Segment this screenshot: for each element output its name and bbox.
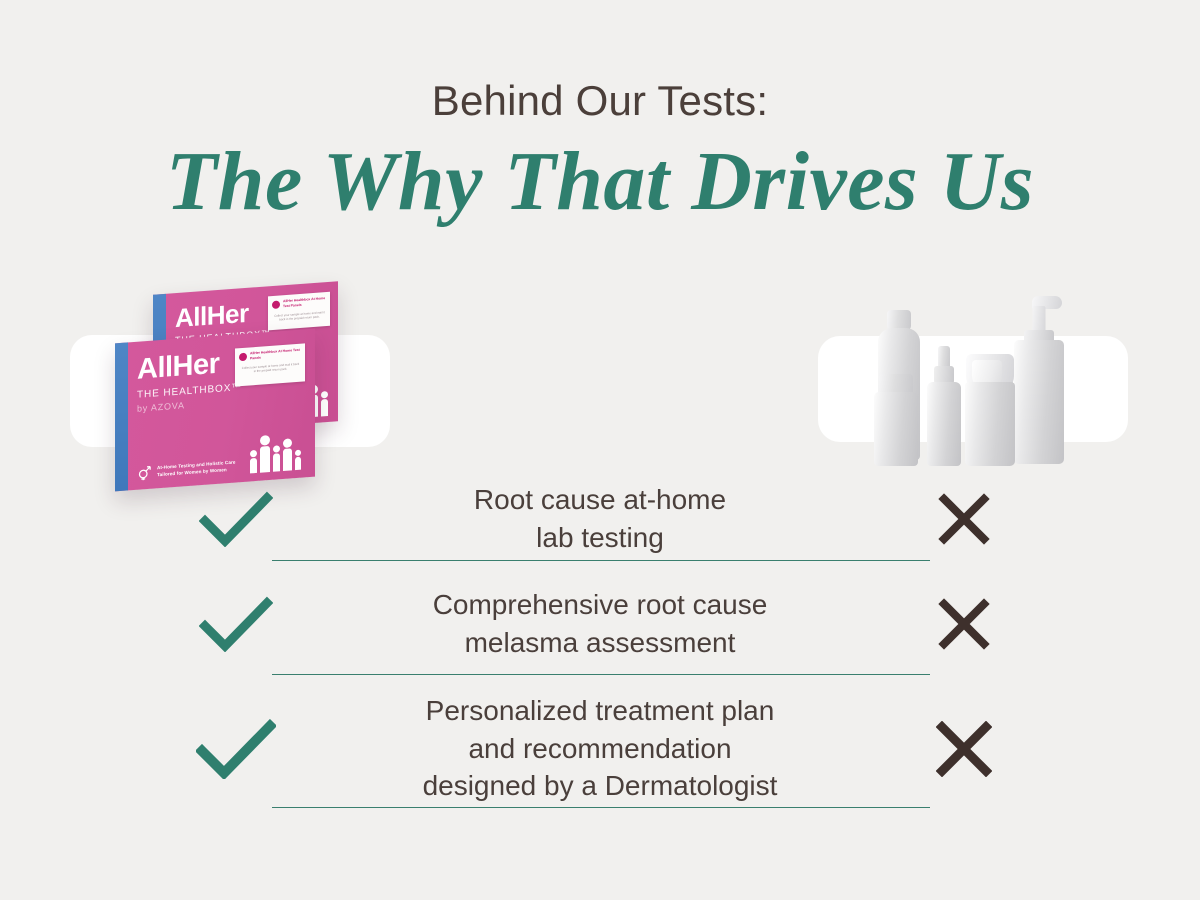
insert-label-title: AllHer Healthbox At Home Test Panels [283, 296, 327, 308]
bottle-spray-mist [927, 346, 961, 466]
cross-icon [914, 721, 1014, 777]
feature-text: Root cause at-home lab testing [320, 481, 880, 556]
comparison-row: Comprehensive root cause melasma assessm… [0, 567, 1200, 681]
comparison-row: Root cause at-home lab testing [0, 470, 1200, 567]
bottle-tall-pump [1014, 294, 1064, 464]
row-divider [272, 674, 930, 675]
insert-label-title: AllHer Healthbox At Home Test Panels [250, 348, 302, 361]
header: Behind Our Tests: The Why That Drives Us [0, 78, 1200, 226]
feature-text: Comprehensive root cause melasma assessm… [320, 586, 880, 661]
eyebrow-text: Behind Our Tests: [0, 78, 1200, 124]
venus-badge-icon [272, 300, 280, 309]
cross-icon [914, 493, 1014, 545]
skincare-bottles-image [872, 284, 1072, 466]
insert-label: AllHer Healthbox At Home Test Panels Col… [268, 292, 330, 331]
cross-icon [914, 598, 1014, 650]
check-icon [186, 719, 286, 779]
page-title: The Why That Drives Us [0, 138, 1200, 226]
insert-label-body: Collect your sample at home and mail it … [241, 362, 300, 375]
comparison-row: Personalized treatment plan and recommen… [0, 681, 1200, 816]
people-graphic [250, 432, 301, 473]
feature-text: Personalized treatment plan and recommen… [320, 692, 880, 805]
insert-label-body: Collect your sample at home and mail it … [274, 310, 325, 322]
bottle-short-jar [874, 374, 918, 466]
row-divider [272, 560, 930, 561]
check-icon [186, 491, 286, 547]
venus-badge-icon [239, 353, 247, 362]
poster-canvas: Behind Our Tests: The Why That Drives Us… [0, 0, 1200, 900]
comparison-table: Root cause at-home lab testing Comprehen… [0, 470, 1200, 816]
allher-product-boxes: AllHer THE HEALTHBOX™ by AZOVA AllHer He… [95, 288, 355, 488]
bottle-airless-pump [965, 354, 1015, 466]
insert-label: AllHer Healthbox At Home Test Panels Col… [235, 343, 305, 386]
allher-box-front: AllHer THE HEALTHBOX™ by AZOVA AllHer He… [115, 329, 315, 492]
row-divider [272, 807, 930, 808]
check-icon [186, 596, 286, 652]
